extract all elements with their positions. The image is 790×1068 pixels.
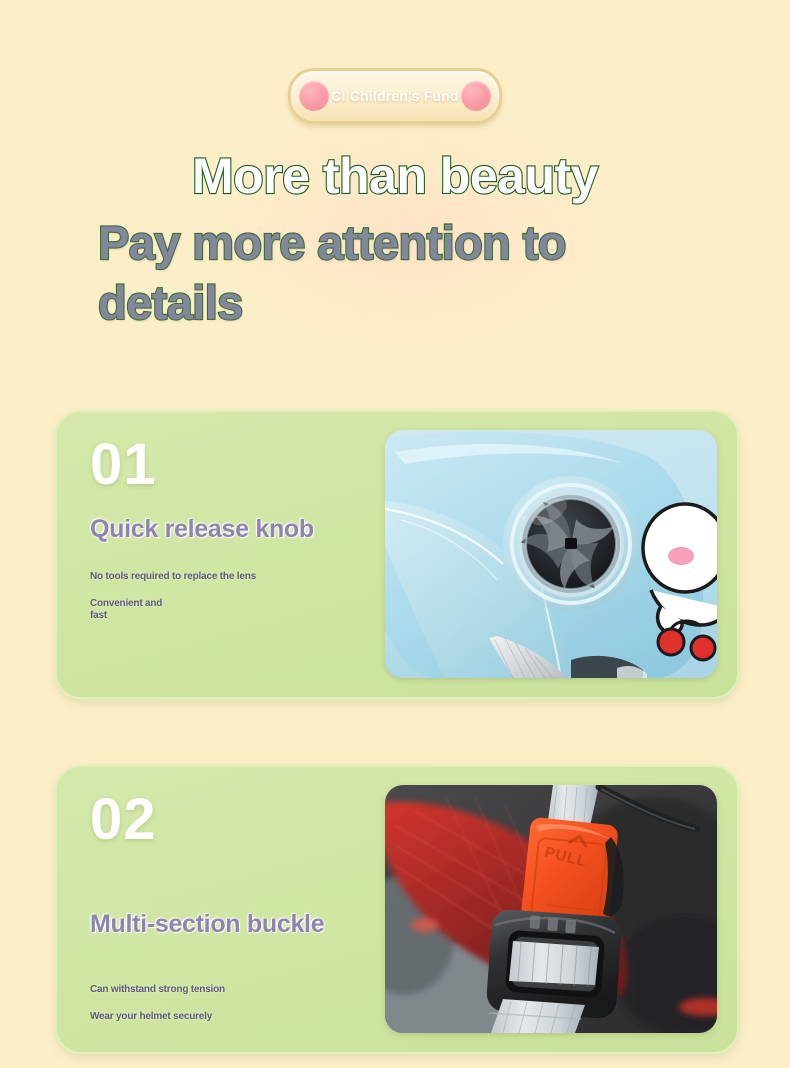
feature-card-02-number: 02 bbox=[90, 791, 380, 849]
helmet-knob-photo bbox=[385, 430, 717, 678]
feature-card-01-title: Quick release knob bbox=[90, 514, 380, 545]
list-item: Wear your helmet securely bbox=[90, 1011, 380, 1024]
feature-card-02-text: 02 Multi-section buckle Can withstand st… bbox=[90, 791, 380, 1023]
brand-badge-label: CI Children's Fund bbox=[331, 88, 458, 104]
brand-badge: CI Children's Fund bbox=[288, 68, 502, 124]
feature-card-02: 02 Multi-section buckle Can withstand st… bbox=[55, 765, 739, 1054]
list-item: No tools required to replace the lens bbox=[90, 571, 380, 584]
headline-block: More than beauty Pay more attention to d… bbox=[0, 150, 790, 333]
headline-secondary: Pay more attention to details bbox=[0, 213, 790, 333]
list-item: Can withstand strong tension bbox=[90, 984, 380, 997]
feature-card-01: 01 Quick release knob No tools required … bbox=[55, 410, 739, 699]
pink-circle-icon-right bbox=[461, 81, 491, 111]
buckle-strap-photo: PULL bbox=[385, 785, 717, 1033]
feature-card-01-text: 01 Quick release knob No tools required … bbox=[90, 436, 380, 623]
feature-card-02-title: Multi-section buckle bbox=[90, 909, 380, 940]
feature-card-01-bullets: No tools required to replace the lens Co… bbox=[90, 571, 380, 623]
pink-circle-icon-left bbox=[299, 81, 329, 111]
badge-container: CI Children's Fund bbox=[0, 68, 790, 124]
feature-card-02-bullets: Can withstand strong tension Wear your h… bbox=[90, 984, 380, 1023]
headline-primary: More than beauty bbox=[0, 150, 790, 203]
list-item: Convenient and fast bbox=[90, 598, 380, 623]
feature-card-01-number: 01 bbox=[90, 436, 380, 494]
